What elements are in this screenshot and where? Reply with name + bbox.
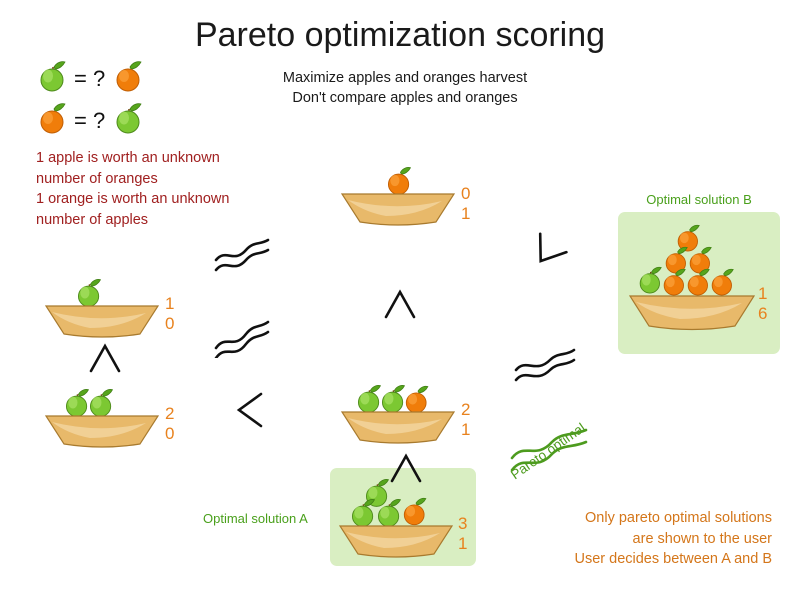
subtitle-line-2: Don't compare apples and oranges [210,88,600,108]
unknown-worth-note: 1 apple is worth an unknown number of or… [36,148,229,230]
bowl-with-fruit [338,378,458,446]
bowl-with-fruit [42,382,162,450]
bowl-icon [630,296,754,330]
note-line: Only pareto optimal solutions [500,508,772,529]
bowl-with-fruit [42,272,162,340]
score-apples: 2 [165,404,174,424]
solution-two-apples: 2 0 [42,382,162,455]
better-than-wedge-icon [383,288,417,320]
score-apples: 1 [165,294,174,314]
bowl-icon [342,194,454,225]
score-apples: 3 [458,514,467,534]
solution-two-apples-one-orange: 2 1 [338,378,458,451]
score-one-apple: 1 0 [165,294,174,334]
score-apples: 1 [758,284,767,304]
bowl-icon [46,416,158,447]
less-than-icon [233,390,267,430]
orange-icon [110,58,148,101]
better-than-wedge-icon [88,342,122,374]
bowl-with-fruit [336,478,466,562]
solution-b-label: Optimal solution B [618,192,780,207]
score-one-orange: 0 1 [461,184,470,224]
bowl-icon [342,412,454,443]
legend-equals-unknown: = ? [74,68,105,90]
legend-row-apple-equals-orange: = ? [34,58,148,100]
orange-icon [34,100,72,143]
subtitle: Maximize apples and oranges harvest Don'… [210,68,600,108]
score-oranges: 1 [458,534,467,554]
less-than-rotated-icon [521,227,573,278]
incomparable-approx-icon [512,348,580,384]
score-oranges: 0 [165,424,174,444]
score-solution-a: 3 1 [458,514,467,554]
score-two-apples: 2 0 [165,404,174,444]
apple-icon [34,58,72,101]
legend-row-orange-equals-apple: = ? [34,100,148,142]
bowl-with-fruit [628,222,778,346]
score-oranges: 1 [461,420,470,440]
score-two-apples-one-orange: 2 1 [461,400,470,440]
note-line: number of apples [36,210,229,231]
user-decides-note: Only pareto optimal solutions are shown … [500,508,772,570]
solution-a-bowl: 3 1 [336,478,466,567]
score-oranges: 6 [758,304,767,324]
fruit-equivalence-legend: = ? = ? [34,58,148,142]
score-oranges: 0 [165,314,174,334]
note-line: 1 apple is worth an unknown [36,148,229,169]
note-line: are shown to the user [500,529,772,550]
score-oranges: 1 [461,204,470,224]
bowl-with-fruit [338,160,458,228]
note-line: 1 orange is worth an unknown [36,189,229,210]
pareto-diagram: Pareto optimization scoring Maximize app… [0,0,800,600]
bowl-icon [46,306,158,337]
solution-a-label: Optimal solution A [203,511,308,526]
legend-equals-unknown: = ? [74,110,105,132]
score-solution-b: 1 6 [758,284,767,324]
apple-icon [110,100,148,143]
solution-one-apple: 1 0 [42,272,162,345]
incomparable-approx-icon [212,238,274,274]
note-line: number of oranges [36,169,229,190]
subtitle-line-1: Maximize apples and oranges harvest [210,68,600,88]
incomparable-approx-icon [212,318,274,358]
better-than-wedge-icon [389,452,423,484]
bowl-icon [340,526,452,557]
score-apples: 2 [461,400,470,420]
score-apples: 0 [461,184,470,204]
solution-b-bowl: 1 6 [628,222,778,351]
note-line: User decides between A and B [500,549,772,570]
page-title: Pareto optimization scoring [0,16,800,55]
solution-one-orange: 0 1 [338,160,458,233]
